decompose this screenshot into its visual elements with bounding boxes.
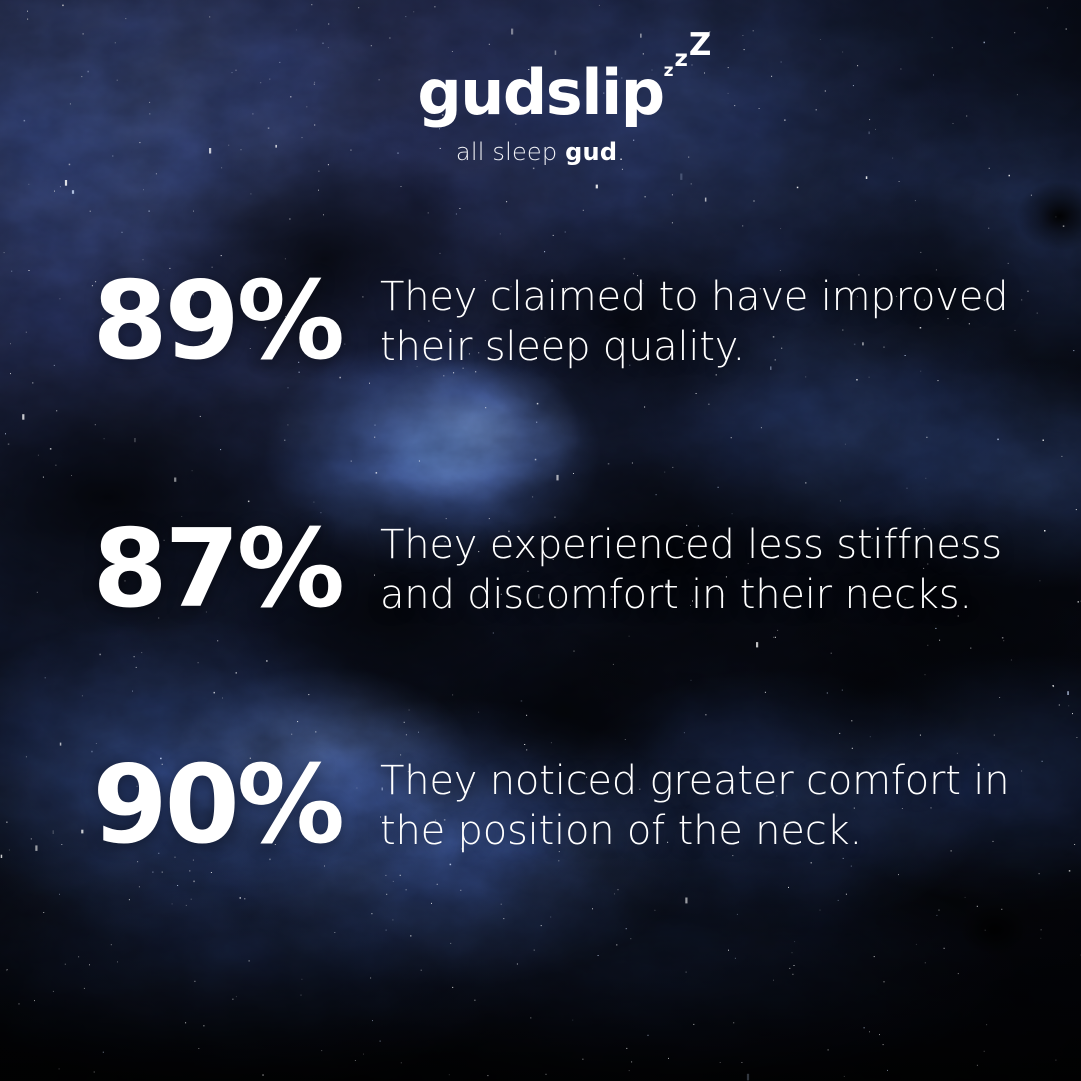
stat-row: 89% They claimed to have improved their … [0, 268, 1081, 376]
stat-description: They experienced less stiffness and disc… [350, 520, 1081, 621]
stat-description: They claimed to have improved their slee… [350, 272, 1081, 373]
poster-content: gudslip z z Z all sleep gud. 89% They cl… [0, 0, 1081, 1081]
tagline-bold-word: gud [565, 138, 617, 166]
brand-tagline: all sleep gud. [0, 138, 1081, 166]
sleep-z-small: z [664, 63, 674, 80]
stat-percentage: 90% [0, 752, 350, 860]
sleep-zzz-icon: z z Z [664, 60, 712, 91]
brand-wordmark: gudslip z z Z [417, 62, 663, 124]
stat-percentage: 89% [0, 268, 350, 376]
stat-description: They noticed greater comfort in the posi… [350, 756, 1081, 857]
stat-row: 87% They experienced less stiffness and … [0, 516, 1081, 624]
stat-row: 90% They noticed greater comfort in the … [0, 752, 1081, 860]
stat-percentage: 87% [0, 516, 350, 624]
tagline-suffix: . [617, 138, 625, 166]
sleep-z-medium: z [675, 48, 688, 71]
sleep-z-large: Z [689, 30, 711, 61]
brand-logo-block: gudslip z z Z all sleep gud. [0, 62, 1081, 166]
tagline-prefix: all sleep [456, 138, 565, 166]
promotional-graphic: gudslip z z Z all sleep gud. 89% They cl… [0, 0, 1081, 1081]
brand-wordmark-text: gudslip [417, 56, 663, 129]
